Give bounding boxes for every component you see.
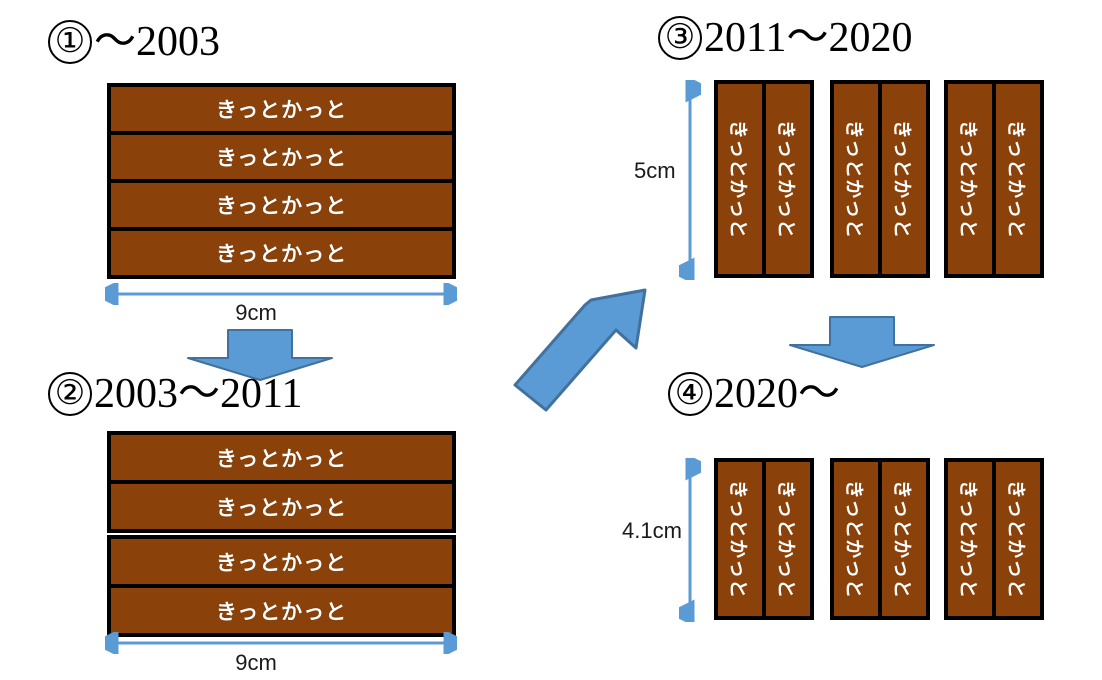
section-4-dimension-label: 4.1cm (622, 518, 682, 544)
arrow-3-to-4-down-icon (786, 315, 938, 369)
chocolate-bar-label: きっとかっと (957, 479, 984, 598)
chocolate-bar: きっとかっと (882, 462, 926, 616)
arrow-2-to-3-up-right-icon (503, 286, 663, 420)
section-4-title: ④ 2020〜 (668, 372, 840, 416)
section-3-height-arrow (679, 80, 701, 280)
section-2-title: ② 2003〜2011 (48, 372, 302, 416)
chocolate-bar-label: きっとかっと (1005, 479, 1032, 598)
chocolate-bar-label: きっとかっと (1005, 119, 1032, 238)
chocolate-bar: きっとかっと (882, 84, 926, 274)
chocolate-bar: きっとかっと (111, 435, 452, 480)
section-3-title: ③ 2011〜2020 (658, 16, 912, 60)
section-3-bar-group-1: きっとかっと きっとかっと (714, 80, 814, 278)
chocolate-bar: きっとかっと (111, 183, 452, 227)
section-3-number: ③ (658, 16, 702, 60)
section-1-number: ① (48, 20, 92, 64)
section-4-height-arrow (679, 458, 701, 622)
chocolate-bar: きっとかっと (766, 84, 810, 274)
chocolate-bar-label: きっとかっと (775, 479, 802, 598)
section-4-bar-group-2: きっとかっと きっとかっと (830, 458, 930, 620)
chocolate-bar-label: きっとかっと (891, 119, 918, 238)
section-1-dimension-label: 9cm (235, 300, 277, 326)
section-2-bar-group-2: きっとかっと きっとかっと (107, 535, 456, 637)
chocolate-bar-label: きっとかっと (775, 119, 802, 238)
chocolate-bar-label: きっとかっと (957, 119, 984, 238)
section-2-width-arrow (105, 632, 457, 654)
chocolate-bar-label: きっとかっと (727, 479, 754, 598)
chocolate-bar-label: きっとかっと (843, 479, 870, 598)
chocolate-bar: きっとかっと (111, 135, 452, 179)
chocolate-bar-label: きっとかっと (891, 479, 918, 598)
section-4-period: 2020〜 (714, 373, 840, 415)
section-2-dimension-label: 9cm (235, 650, 277, 676)
chocolate-bar: きっとかっと (718, 462, 762, 616)
chocolate-bar: きっとかっと (996, 462, 1040, 616)
section-2-number: ② (48, 372, 92, 416)
chocolate-bar-label: きっとかっと (727, 119, 754, 238)
section-3-bar-group-3: きっとかっと きっとかっと (944, 80, 1044, 278)
diagram-canvas: ① 〜2003 きっとかっと きっとかっと きっとかっと きっとかっと 9cm (0, 0, 1102, 680)
chocolate-bar: きっとかっと (948, 462, 992, 616)
chocolate-bar-label: きっとかっと (843, 119, 870, 238)
section-3-bar-group-2: きっとかっと きっとかっと (830, 80, 930, 278)
chocolate-bar: きっとかっと (766, 462, 810, 616)
chocolate-bar: きっとかっと (718, 84, 762, 274)
chocolate-bar: きっとかっと (111, 484, 452, 529)
chocolate-bar: きっとかっと (996, 84, 1040, 274)
section-1-bar-group-1: きっとかっと きっとかっと きっとかっと きっとかっと (107, 83, 456, 279)
section-4-bar-group-3: きっとかっと きっとかっと (944, 458, 1044, 620)
section-1-width-arrow (105, 283, 457, 305)
section-4-bar-group-1: きっとかっと きっとかっと (714, 458, 814, 620)
section-1-period: 〜2003 (94, 21, 220, 63)
section-2-period: 2003〜2011 (94, 373, 302, 415)
section-2-bar-group-1: きっとかっと きっとかっと (107, 431, 456, 533)
chocolate-bar: きっとかっと (111, 588, 452, 633)
chocolate-bar: きっとかっと (948, 84, 992, 274)
chocolate-bar: きっとかっと (834, 84, 878, 274)
section-1-title: ① 〜2003 (48, 20, 220, 64)
chocolate-bar: きっとかっと (111, 231, 452, 275)
chocolate-bar: きっとかっと (111, 539, 452, 584)
section-4-number: ④ (668, 372, 712, 416)
chocolate-bar: きっとかっと (111, 87, 452, 131)
section-3-period: 2011〜2020 (704, 17, 912, 59)
section-3-dimension-label: 5cm (634, 158, 676, 184)
chocolate-bar: きっとかっと (834, 462, 878, 616)
